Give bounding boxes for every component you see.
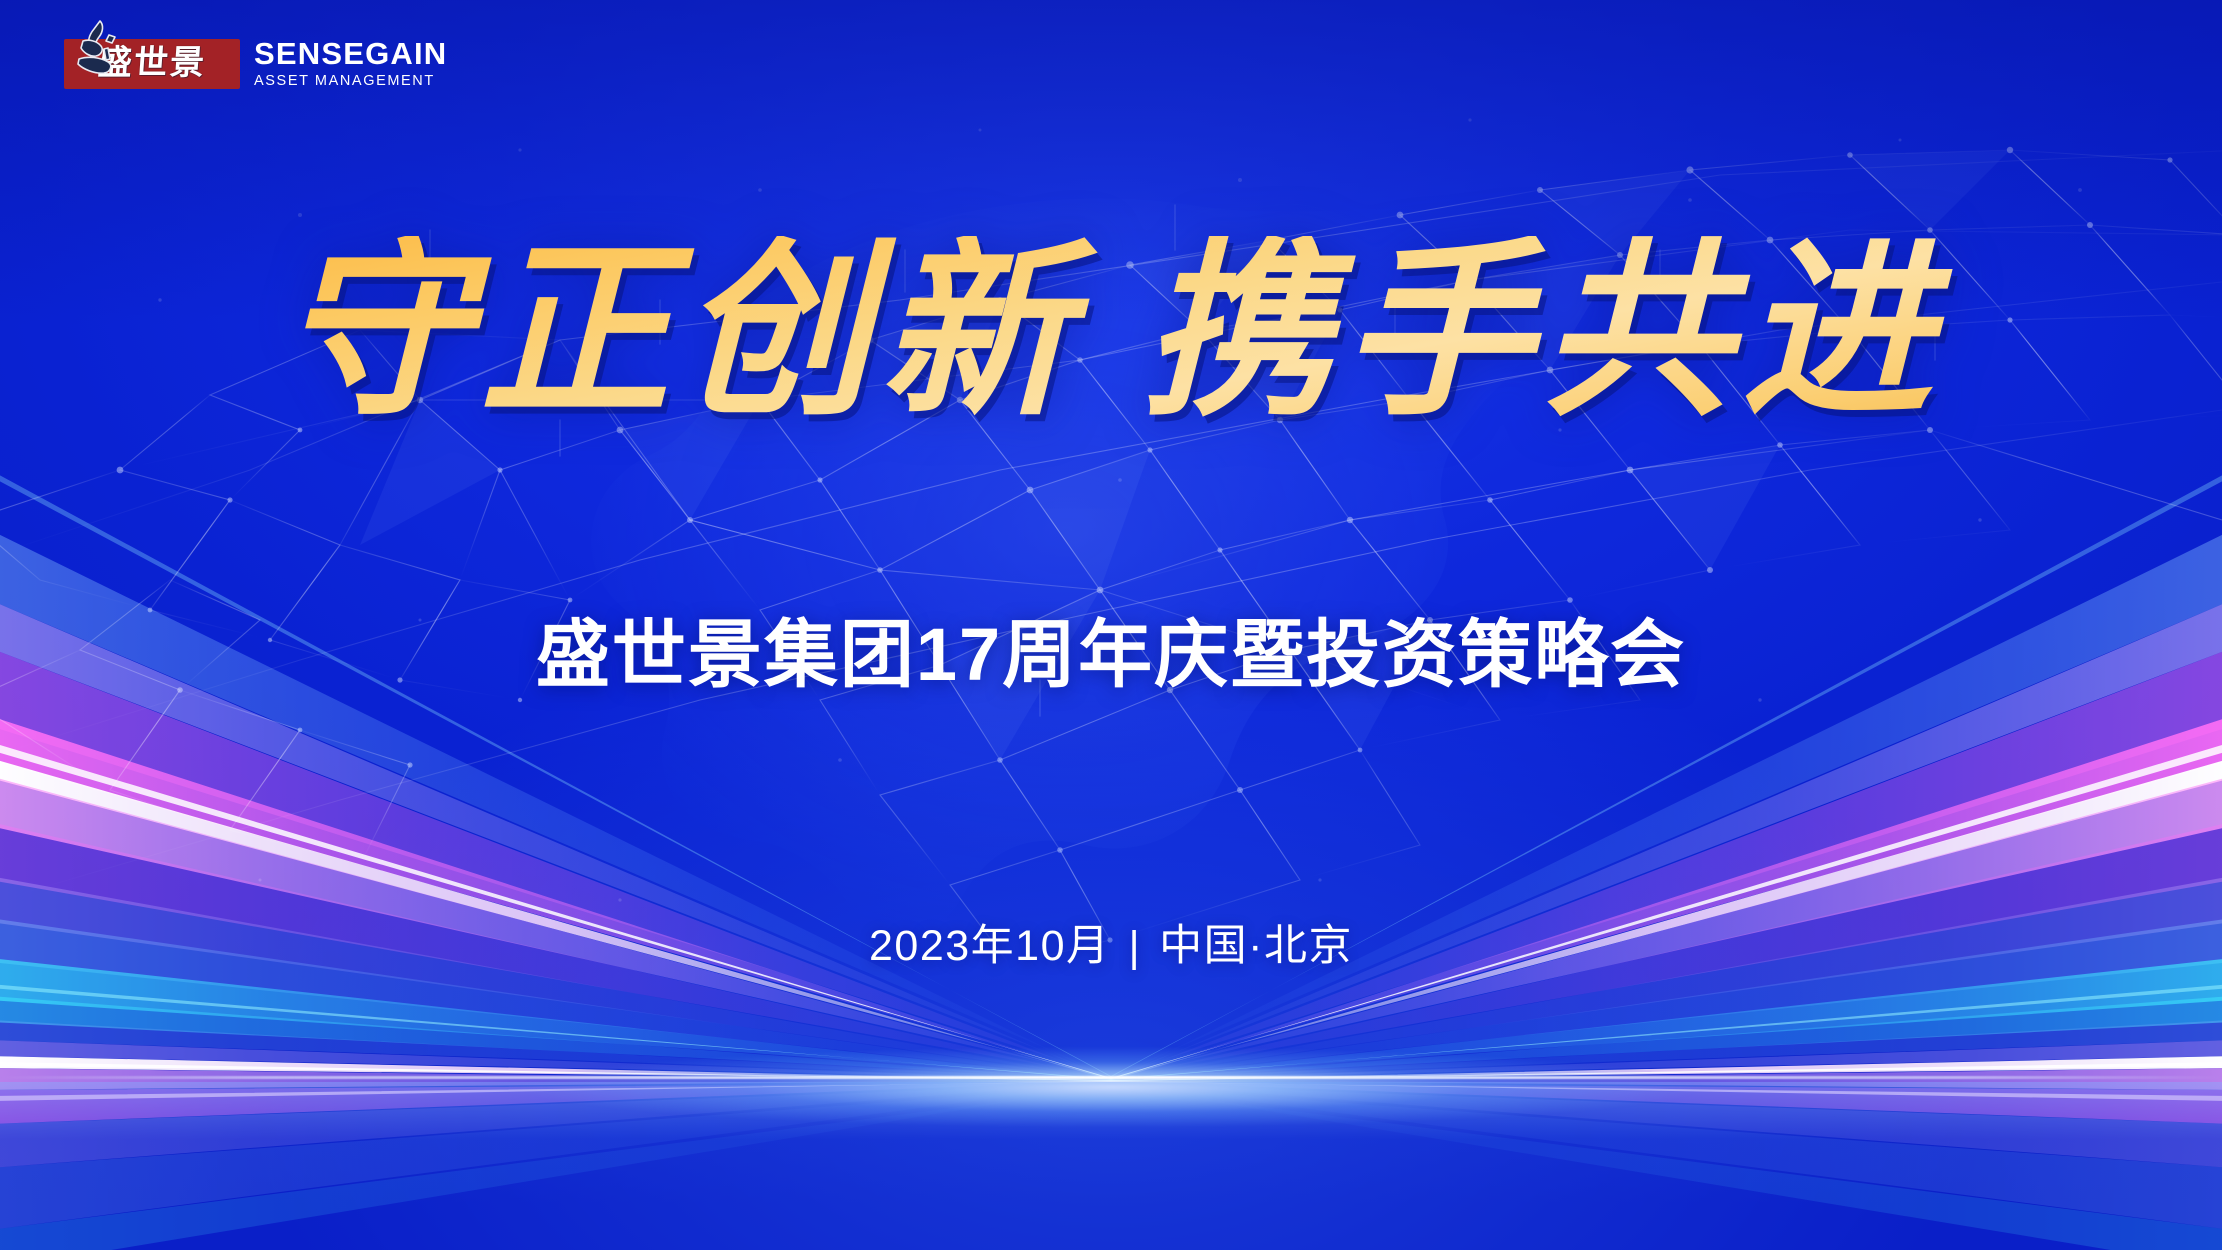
brand-name-en: SENSEGAIN [254,38,447,70]
event-keyvisual-poster: 盛世景 SENSEGAIN ASSET MANAGEMENT 守正创新携手共进 … [0,0,2222,1250]
brand-logo-badge: 盛世景 [64,39,240,89]
event-date: 2023年10月 [869,922,1111,970]
event-subtitle: 盛世景集团17周年庆暨投资策略会 [0,618,2222,692]
brand-badge-chinese: 盛世景 [97,46,207,80]
brand-wordmark: SENSEGAIN ASSET MANAGEMENT [254,38,447,90]
brand-logo[interactable]: 盛世景 SENSEGAIN ASSET MANAGEMENT [64,38,447,90]
dateline-divider: | [1129,926,1142,969]
brand-tagline-en: ASSET MANAGEMENT [254,74,447,89]
event-dateline: 2023年10月|中国·北京 [0,925,2222,968]
main-headline: 守正创新携手共进 [0,236,2222,426]
event-location: 中国·北京 [1159,922,1353,970]
floor-reflection [0,1082,2222,1250]
headline-part-1: 守正创新 [280,219,1080,442]
horizon-line [0,1076,2222,1079]
headline-part-2: 携手共进 [1142,219,1942,442]
